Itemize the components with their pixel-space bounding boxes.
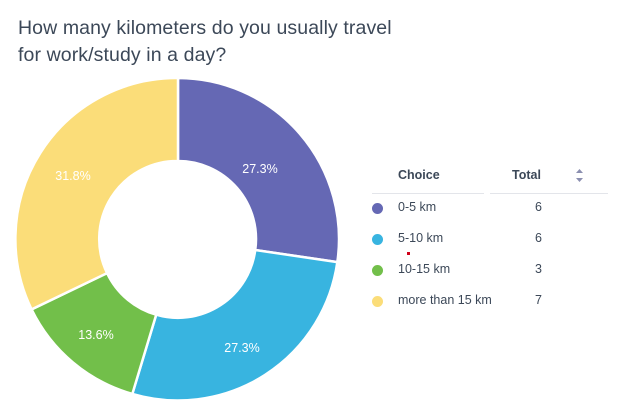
donut-chart-svg: 27.3% 27.3% 13.6% 31.8% — [14, 77, 342, 401]
legend-swatch-icon — [372, 296, 383, 307]
table-header-row: Choice Total — [372, 160, 608, 194]
legend-item-total: 6 — [512, 231, 542, 245]
cursor-dot-artifact — [407, 252, 410, 255]
legend-swatch-icon — [372, 234, 383, 245]
legend-item-total: 3 — [512, 262, 542, 276]
table-row[interactable]: 0-5 km 6 — [372, 194, 608, 225]
slice-5-10-km[interactable] — [132, 250, 337, 401]
legend-swatch-icon — [372, 265, 383, 276]
legend-item-total: 7 — [512, 293, 542, 307]
legend-table: Choice Total 0-5 km 6 5-10 km 6 10-15 km… — [372, 160, 608, 318]
sort-updown-icon[interactable] — [575, 169, 584, 182]
slice-label-yellow: 31.8% — [55, 169, 90, 183]
donut-slices — [15, 78, 339, 401]
table-row[interactable]: 5-10 km 6 — [372, 225, 608, 256]
table-row[interactable]: 10-15 km 3 — [372, 256, 608, 287]
donut-chart: 27.3% 27.3% 13.6% 31.8% — [14, 77, 342, 401]
legend-swatch-icon — [372, 203, 383, 214]
slice-label-green: 13.6% — [78, 328, 113, 342]
legend-item-label: 5-10 km — [398, 231, 443, 245]
column-header-total[interactable]: Total — [512, 168, 541, 182]
legend-item-total: 6 — [512, 200, 542, 214]
page-title: How many kilometers do you usually trave… — [18, 15, 438, 69]
table-row[interactable]: more than 15 km 7 — [372, 287, 608, 318]
slice-more-than-15-km[interactable] — [15, 78, 178, 309]
legend-item-label: 10-15 km — [398, 262, 450, 276]
legend-item-label: more than 15 km — [398, 293, 492, 307]
column-header-choice[interactable]: Choice — [398, 168, 440, 182]
slice-label-purple: 27.3% — [242, 162, 277, 176]
slice-label-blue: 27.3% — [224, 341, 259, 355]
legend-item-label: 0-5 km — [398, 200, 436, 214]
